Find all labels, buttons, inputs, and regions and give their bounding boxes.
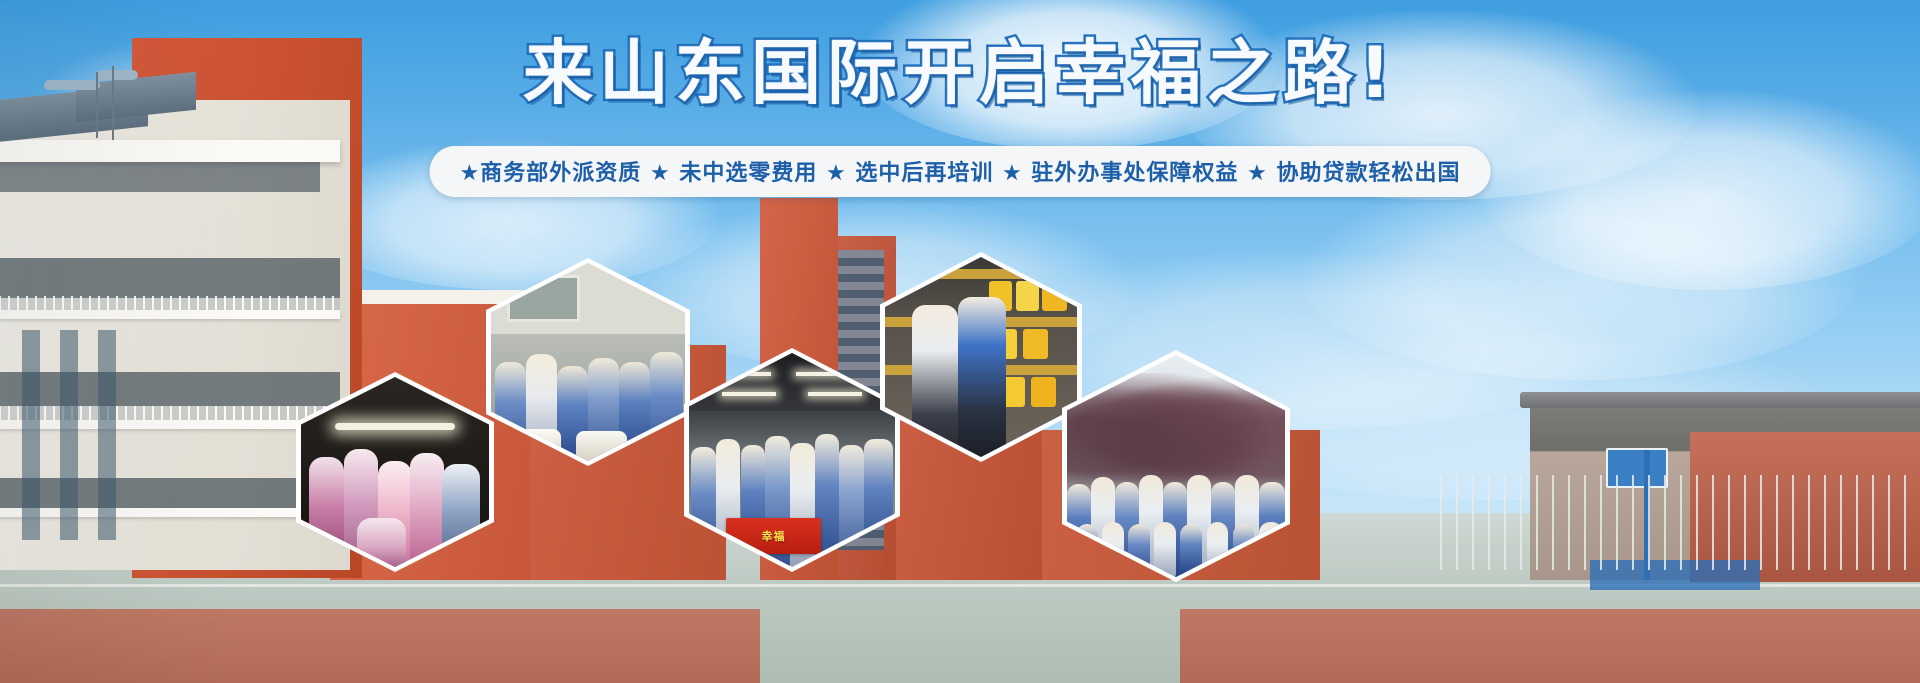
feature-highlights-pill: ★商务部外派资质 ★ 未中选零费用 ★ 选中后再培训 ★ 驻外办事处保障权益 ★… [430, 146, 1491, 197]
photo-kimono-group [301, 377, 489, 567]
ceiling-light [722, 392, 776, 396]
ceiling-light [808, 392, 862, 396]
running-track [1180, 609, 1920, 683]
product-item [1031, 377, 1056, 407]
gymnasium-roof [1520, 392, 1920, 408]
list-item[interactable] [885, 257, 1077, 457]
feature-highlights-text: ★商务部外派资质 ★ 未中选零费用 ★ 选中后再培训 ★ 驻外办事处保障权益 ★… [460, 161, 1461, 186]
list-item[interactable] [301, 377, 489, 567]
person-figure-seated [1154, 522, 1176, 578]
person-figure-seated [1180, 524, 1202, 577]
photo-supermarket [885, 257, 1077, 457]
photo-classroom-food [491, 263, 685, 461]
court-fence [1440, 475, 1920, 570]
product-item [1023, 329, 1048, 359]
person-figure [958, 297, 1006, 457]
red-banner-label: 幸福 [726, 528, 821, 544]
list-item[interactable] [491, 263, 685, 461]
product-item [1016, 281, 1039, 311]
blossom-trees [1067, 373, 1285, 493]
page-title: 来山东国际开启幸福之路! [0, 38, 1920, 108]
stage-lamp [335, 423, 455, 430]
promo-banner: 幸福 [0, 0, 1920, 683]
